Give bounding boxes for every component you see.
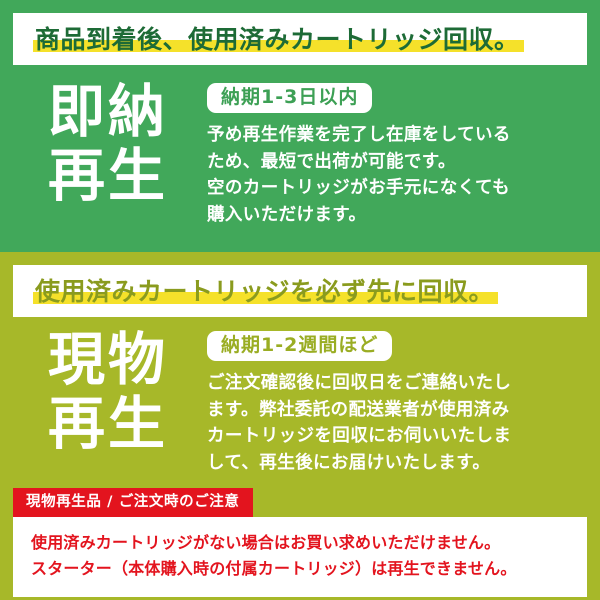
description-line: 空のカートリッジがお手元になくても — [207, 175, 587, 202]
section-sokunou-body: 即納 再生 納期1-3日以内 予め再生作業を完了し在庫をしている ため、最短で出… — [13, 65, 587, 228]
big-label-line-2: 再生 — [13, 393, 203, 457]
section-sokunou-detail: 納期1-3日以内 予め再生作業を完了し在庫をしている ため、最短で出荷が可能です… — [203, 79, 587, 228]
section-sokunou-big-label: 即納 再生 — [13, 79, 203, 209]
order-notice-line: スターター（本体購入時の付属カートリッジ）は再生できません。 — [31, 556, 569, 582]
description-line: 予め再生作業を完了し在庫をしている — [207, 122, 587, 149]
header-label: 商品到着後、使用済みカートリッジ回収。 — [35, 25, 520, 54]
promo-poster: 商品到着後、使用済みカートリッジ回収。 即納 再生 納期1-3日以内 予め再生作… — [0, 0, 600, 600]
order-notice-tab: 現物再生品 / ご注文時のご注意 — [13, 488, 253, 517]
order-notice-body: 使用済みカートリッジがない場合はお買い求めいただけません。 スターター（本体購入… — [13, 517, 587, 597]
section-sokunou-header-bar: 商品到着後、使用済みカートリッジ回収。 — [13, 13, 587, 65]
description-line: 購入いただけます。 — [207, 202, 587, 229]
header-label: 使用済みカートリッジを必ず先に回収。 — [35, 277, 494, 306]
big-label-line-1: 現物 — [13, 329, 203, 393]
section-genbutsu-lead-time-badge: 納期1-2週間ほど — [207, 331, 392, 361]
section-genbutsu-detail: 納期1-2週間ほど ご注文確認後に回収日をご連絡いたし ます。弊社委託の配送業者… — [203, 327, 587, 476]
section-genbutsu: 使用済みカートリッジを必ず先に回収。 現物 再生 納期1-2週間ほど ご注文確認… — [0, 252, 600, 600]
big-label-line-1: 即納 — [13, 81, 203, 145]
section-sokunou-lead-time-badge: 納期1-3日以内 — [207, 83, 372, 113]
order-notice: 現物再生品 / ご注文時のご注意 使用済みカートリッジがない場合はお買い求めいた… — [13, 488, 587, 596]
description-line: ご注文確認後に回収日をご連絡いたし — [207, 370, 587, 397]
section-sokunou-header-text: 商品到着後、使用済みカートリッジ回収。 — [35, 27, 520, 52]
section-sokunou-description: 予め再生作業を完了し在庫をしている ため、最短で出荷が可能です。 空のカートリッ… — [207, 122, 587, 228]
description-line: ため、最短で出荷が可能です。 — [207, 149, 587, 176]
description-line: カートリッジを回収にお伺いいたしま — [207, 423, 587, 450]
section-genbutsu-big-label: 現物 再生 — [13, 327, 203, 457]
description-line: ます。弊社委託の配送業者が使用済み — [207, 397, 587, 424]
section-genbutsu-body: 現物 再生 納期1-2週間ほど ご注文確認後に回収日をご連絡いたし ます。弊社委… — [13, 317, 587, 476]
order-notice-line: 使用済みカートリッジがない場合はお買い求めいただけません。 — [31, 530, 569, 556]
section-genbutsu-header-bar: 使用済みカートリッジを必ず先に回収。 — [13, 265, 587, 317]
big-label-line-2: 再生 — [13, 145, 203, 209]
section-sokunou: 商品到着後、使用済みカートリッジ回収。 即納 再生 納期1-3日以内 予め再生作… — [0, 0, 600, 252]
section-genbutsu-header-text: 使用済みカートリッジを必ず先に回収。 — [35, 279, 494, 304]
section-genbutsu-description: ご注文確認後に回収日をご連絡いたし ます。弊社委託の配送業者が使用済み カートリ… — [207, 370, 587, 476]
description-line: して、再生後にお届けいたします。 — [207, 450, 587, 477]
